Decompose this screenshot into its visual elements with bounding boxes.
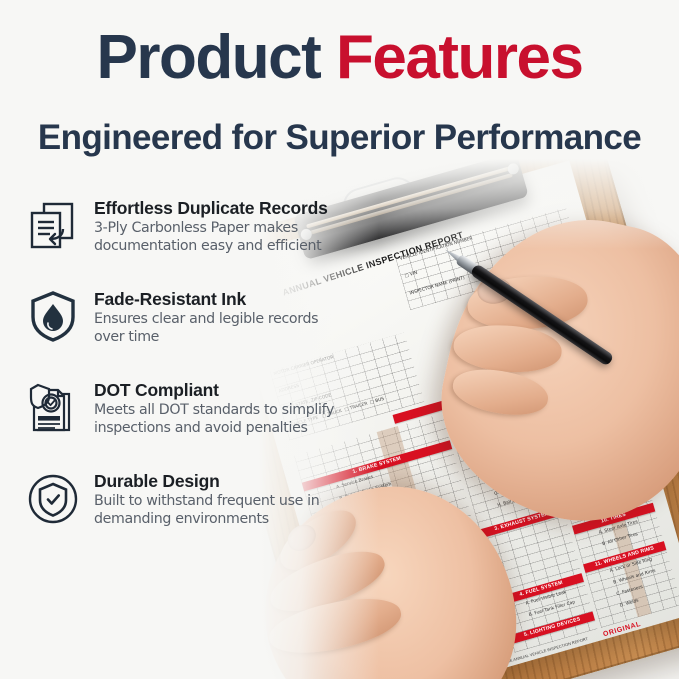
- feature-description: Ensures clear and legible records over t…: [94, 310, 352, 346]
- feature-description: Meets all DOT standards to simplify insp…: [94, 401, 352, 437]
- page-title: Product Features: [0, 22, 679, 93]
- feature-title: Effortless Duplicate Records: [94, 198, 352, 218]
- feature-description: Built to withstand frequent use in deman…: [94, 492, 352, 528]
- feature-item: Fade-Resistant Ink Ensures clear and leg…: [22, 287, 352, 351]
- shield-ink-drop-icon: [22, 287, 84, 351]
- feature-item: DOT Compliant Meets all DOT standards to…: [22, 378, 352, 442]
- feature-list: Effortless Duplicate Records 3-Ply Carbo…: [22, 196, 352, 560]
- infographic-canvas: Product Features Engineered for Superior…: [0, 0, 679, 679]
- shield-check-circle-icon: [22, 469, 84, 533]
- page-subtitle: Engineered for Superior Performance: [0, 118, 679, 158]
- title-part-features: Features: [336, 23, 582, 92]
- feature-item: Effortless Duplicate Records 3-Ply Carbo…: [22, 196, 352, 260]
- title-part-product: Product: [97, 23, 321, 92]
- feature-item: Durable Design Built to withstand freque…: [22, 469, 352, 533]
- feature-title: DOT Compliant: [94, 380, 352, 400]
- duplicate-documents-icon: [22, 196, 84, 260]
- feature-title: Fade-Resistant Ink: [94, 289, 352, 309]
- certified-document-icon: [22, 378, 84, 442]
- feature-description: 3-Ply Carbonless Paper makes documentati…: [94, 219, 352, 255]
- feature-title: Durable Design: [94, 471, 352, 491]
